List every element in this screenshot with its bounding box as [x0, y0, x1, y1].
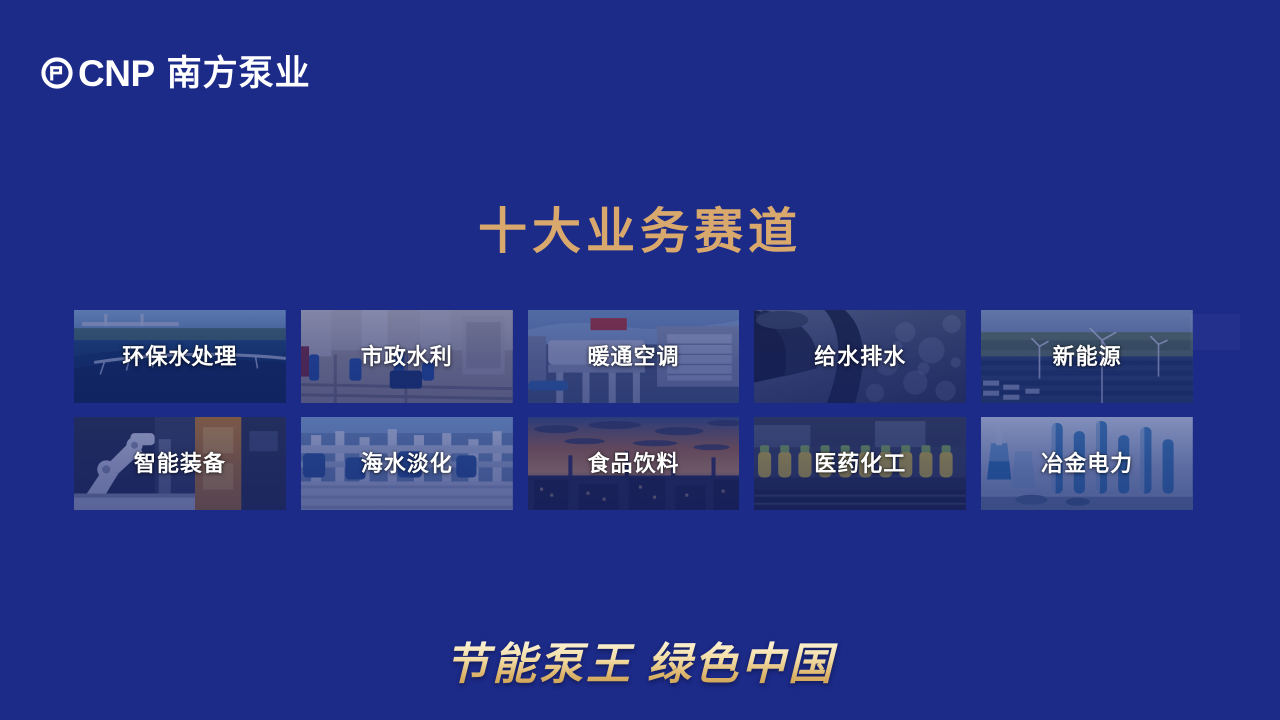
sector-card-label: 环保水处理 — [122, 346, 237, 368]
presentation-slide: CNP 南方泵业 十大业务赛道 — [0, 0, 1280, 720]
sector-card-label: 医药化工 — [814, 453, 906, 475]
sector-card[interactable]: 海水淡化 — [301, 417, 513, 510]
sector-card[interactable]: 冶金电力 — [981, 417, 1193, 510]
footer-slogan: 节能泵王 绿色中国 — [0, 640, 1280, 691]
sector-card[interactable]: 新能源 — [981, 310, 1193, 403]
sector-card-label: 海水淡化 — [361, 453, 453, 475]
background-artifact-rectangle — [1190, 314, 1240, 350]
sector-card[interactable]: 医药化工 — [754, 417, 966, 510]
sector-card-label: 给水排水 — [814, 346, 906, 368]
sector-card-label: 食品饮料 — [587, 453, 679, 475]
business-sector-grid: 环保水处理 — [74, 310, 1193, 510]
company-logo: CNP 南方泵业 — [40, 50, 311, 96]
sector-card-label: 智能装备 — [134, 453, 226, 475]
sector-card[interactable]: 环保水处理 — [74, 310, 286, 403]
sector-card[interactable]: 暖通空调 — [528, 310, 740, 403]
page-title: 十大业务赛道 — [0, 206, 1280, 260]
sector-card[interactable]: 食品饮料 — [528, 417, 740, 510]
sector-card[interactable]: 市政水利 — [301, 310, 513, 403]
cnp-monogram-icon — [40, 56, 74, 90]
sector-card[interactable]: 给水排水 — [754, 310, 966, 403]
logo-latin-text: CNP — [78, 55, 155, 92]
sector-card-label: 市政水利 — [361, 346, 453, 368]
sector-card[interactable]: 智能装备 — [74, 417, 286, 510]
logo-chinese-text: 南方泵业 — [167, 56, 311, 91]
sector-card-label: 冶金电力 — [1041, 453, 1133, 475]
sector-card-label: 新能源 — [1053, 346, 1122, 368]
sector-card-label: 暖通空调 — [587, 346, 679, 368]
